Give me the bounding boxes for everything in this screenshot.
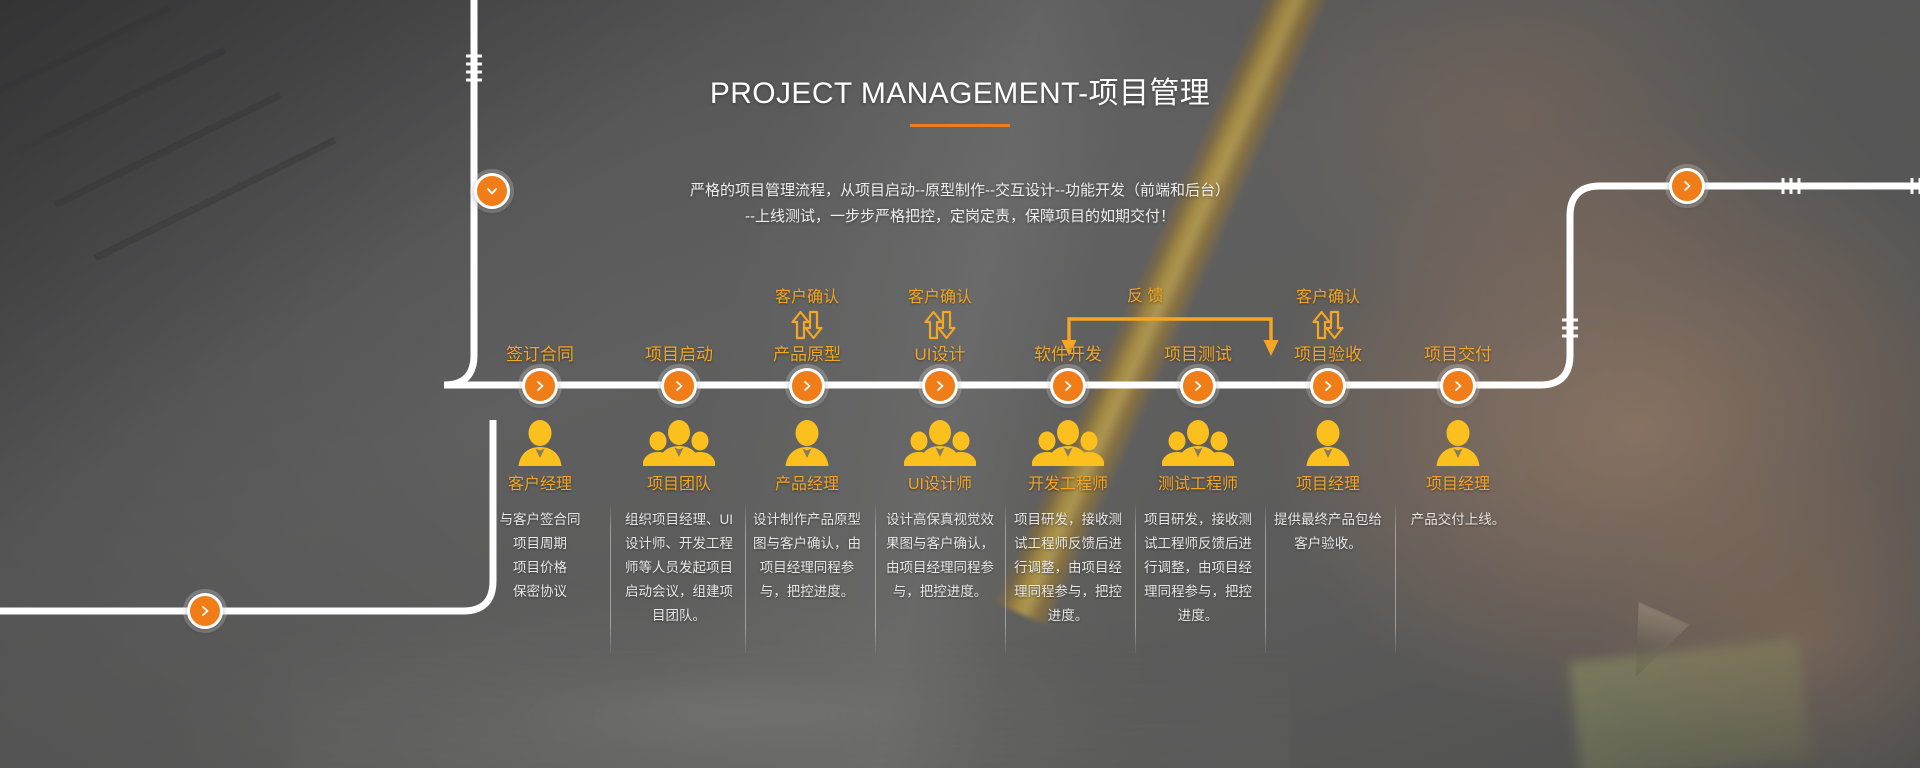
chevron-right-icon <box>1061 379 1075 393</box>
group-person-icon <box>904 420 976 472</box>
stage-node-3[interactable] <box>789 368 825 404</box>
group-person-icon <box>1162 420 1234 472</box>
stage-description: 项目研发，接收测试工程师反馈后进行调整，由项目经理同程参与，把控进度。 <box>1012 508 1124 628</box>
stage-node-6[interactable] <box>1180 368 1216 404</box>
group-person-icon <box>643 420 715 472</box>
stage-role-name: 产品经理 <box>775 470 839 494</box>
column-divider <box>1395 505 1396 653</box>
single-person-icon <box>1422 420 1494 472</box>
single-person-icon <box>1292 420 1364 472</box>
stage-name: 签订合同 <box>506 340 574 365</box>
stage-node-5[interactable] <box>1050 368 1086 404</box>
stage-description: 设计高保真视觉效果图与客户确认，由项目经理同程参与，把控进度。 <box>884 508 996 604</box>
stage-node-4[interactable] <box>922 368 958 404</box>
column-divider <box>875 505 876 653</box>
stage-name: 项目交付 <box>1424 340 1492 365</box>
stage-role-name: 测试工程师 <box>1158 470 1238 494</box>
chevron-right-icon <box>1451 379 1465 393</box>
single-person-icon <box>771 420 843 472</box>
group-person-icon <box>1032 420 1104 472</box>
description-line: 保密协议 <box>484 580 596 604</box>
single-person-icon <box>771 420 843 472</box>
column-divider <box>1265 505 1266 653</box>
stage-above-label: 客户确认 <box>1296 283 1360 307</box>
chevron-right-icon <box>1321 379 1335 393</box>
column-divider <box>1135 505 1136 653</box>
single-person-icon <box>1422 420 1494 472</box>
stage-node-8[interactable] <box>1440 368 1476 404</box>
column-divider <box>1005 505 1006 653</box>
stage-description: 项目研发，接收测试工程师反馈后进行调整，由项目经理同程参与，把控进度。 <box>1142 508 1254 628</box>
chevron-right-icon <box>672 379 686 393</box>
stage-description: 设计制作产品原型图与客户确认，由项目经理同程参与，把控进度。 <box>751 508 863 604</box>
column-divider <box>745 505 746 653</box>
stage-node-2[interactable] <box>661 368 697 404</box>
up-down-arrows-icon <box>923 310 957 340</box>
stage-role-name: 项目团队 <box>647 470 711 494</box>
single-person-icon <box>1292 420 1364 472</box>
stage-name: 项目验收 <box>1294 340 1362 365</box>
description-line: 与客户签合同 <box>484 508 596 532</box>
customer-confirm-arrows <box>923 310 957 340</box>
description-line: 项目价格 <box>484 556 596 580</box>
group-person-icon <box>904 420 976 472</box>
stage-role-name: 客户经理 <box>508 470 572 494</box>
stage-role-name: 开发工程师 <box>1028 470 1108 494</box>
customer-confirm-arrows <box>790 310 824 340</box>
single-person-icon <box>504 420 576 472</box>
project-management-banner: PROJECT MANAGEMENT-项目管理 严格的项目管理流程，从项目启动-… <box>0 0 1920 768</box>
group-person-icon <box>1032 420 1104 472</box>
chevron-right-icon <box>800 379 814 393</box>
description-line: 项目周期 <box>484 532 596 556</box>
stage-name: UI设计 <box>915 340 966 365</box>
up-down-arrows-icon <box>790 310 824 340</box>
stage-role-name: UI设计师 <box>908 470 972 494</box>
stage-description: 与客户签合同项目周期项目价格保密协议 <box>484 508 596 604</box>
chevron-right-icon <box>1191 379 1205 393</box>
stage-name: 项目启动 <box>645 340 713 365</box>
stage-name: 软件开发 <box>1034 340 1102 365</box>
stage-above-label: 客户确认 <box>908 283 972 307</box>
customer-confirm-arrows <box>1311 310 1345 340</box>
stage-description: 组织项目经理、UI设计师、开发工程师等人员发起项目启动会议，组建项目团队。 <box>623 508 735 628</box>
stage-name: 项目测试 <box>1164 340 1232 365</box>
stage-description: 提供最终产品包给客户验收。 <box>1272 508 1384 556</box>
up-down-arrows-icon <box>1311 310 1345 340</box>
single-person-icon <box>504 420 576 472</box>
stage-above-label: 客户确认 <box>775 283 839 307</box>
chevron-right-icon <box>933 379 947 393</box>
stage-node-1[interactable] <box>522 368 558 404</box>
group-person-icon <box>643 420 715 472</box>
stage-node-7[interactable] <box>1310 368 1346 404</box>
group-person-icon <box>1162 420 1234 472</box>
stage-role-name: 项目经理 <box>1296 470 1360 494</box>
stage-list: 签订合同客户经理与客户签合同项目周期项目价格保密协议项目启动项目团队组织项目经理… <box>0 0 1920 768</box>
column-divider <box>610 505 611 653</box>
stage-description: 产品交付上线。 <box>1402 508 1514 532</box>
stage-name: 产品原型 <box>773 340 841 365</box>
chevron-right-icon <box>533 379 547 393</box>
stage-role-name: 项目经理 <box>1426 470 1490 494</box>
